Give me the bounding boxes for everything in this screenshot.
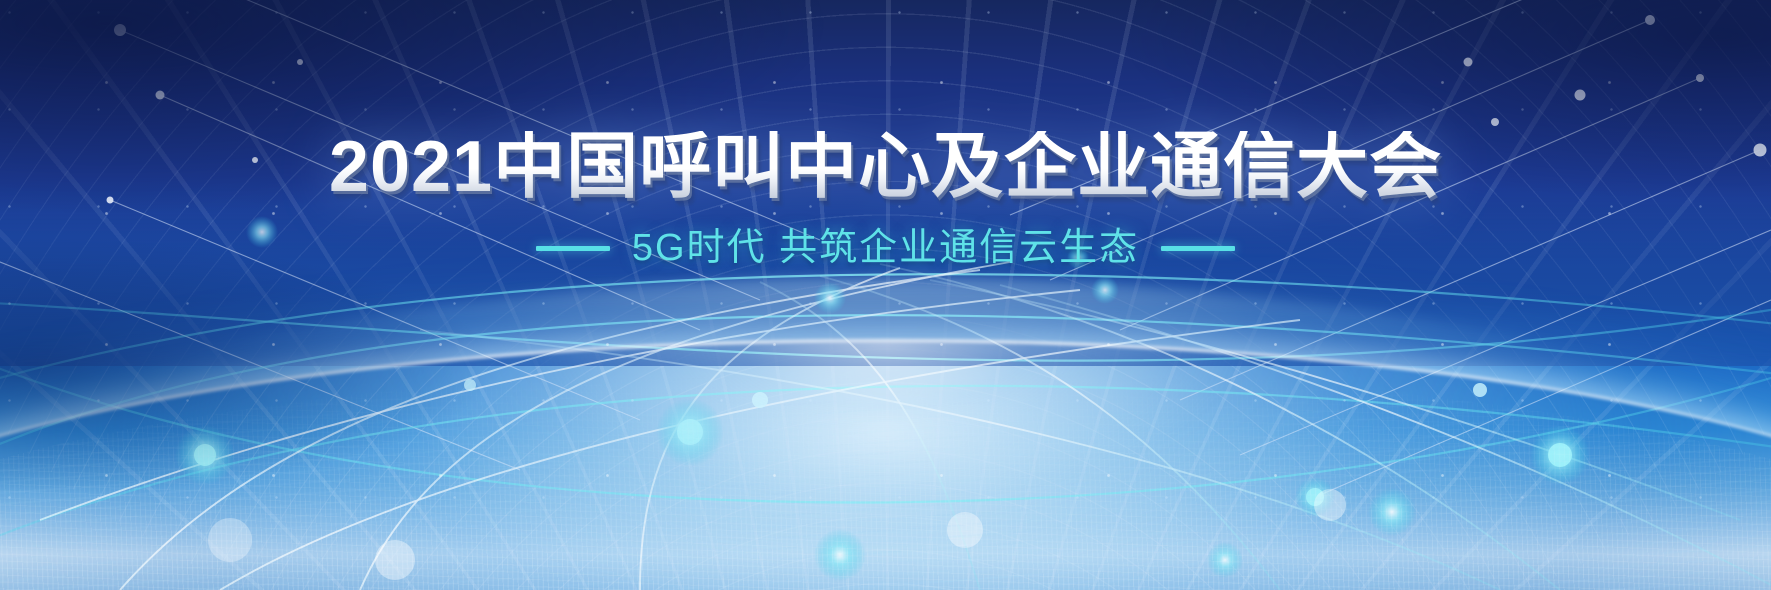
banner-subtitle: 5G时代 共筑企业通信云生态 bbox=[632, 229, 1139, 267]
banner-content: 2021中国呼叫中心及企业通信大会 5G时代 共筑企业通信云生态 bbox=[0, 0, 1771, 590]
rule-left-decoration bbox=[536, 246, 610, 251]
banner-title: 2021中国呼叫中心及企业通信大会 bbox=[329, 131, 1442, 203]
rule-right-decoration bbox=[1161, 246, 1235, 251]
conference-banner: 2021中国呼叫中心及企业通信大会 5G时代 共筑企业通信云生态 bbox=[0, 0, 1771, 590]
banner-subtitle-row: 5G时代 共筑企业通信云生态 bbox=[536, 229, 1235, 267]
